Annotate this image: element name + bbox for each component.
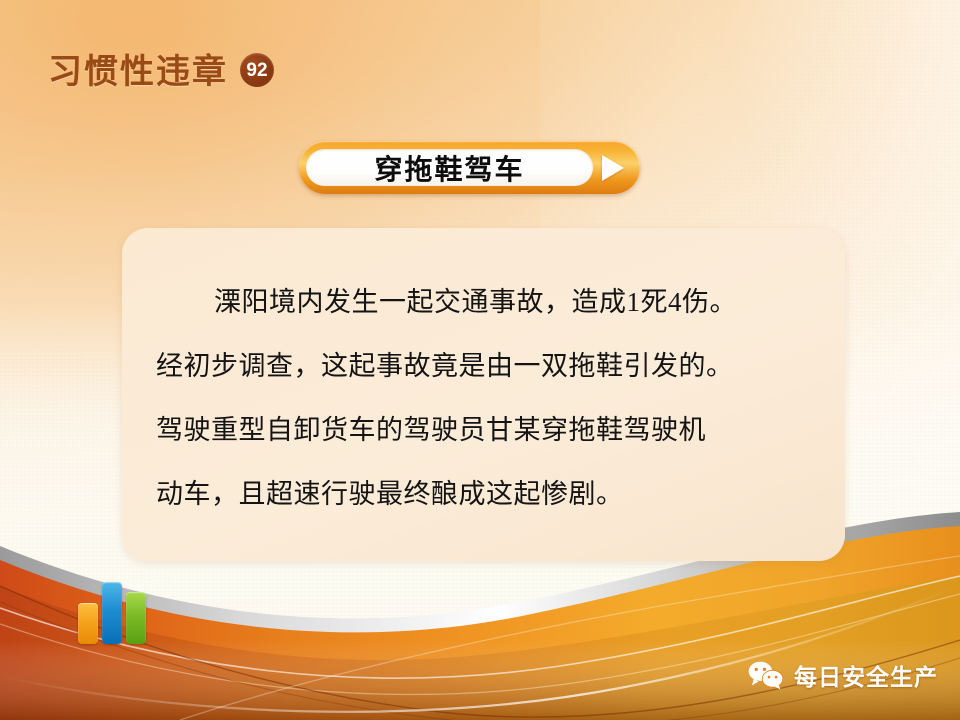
wechat-watermark-label: 每日安全生产 xyxy=(794,658,938,692)
bar-chart-logo-icon xyxy=(78,578,152,644)
topic-banner-inner: 穿拖鞋驾车 xyxy=(306,149,593,186)
body-line-4: 动车，且超速行驶最终酿成这起惨剧。 xyxy=(156,462,807,526)
page-title: 习惯性违章 xyxy=(48,44,228,93)
body-line-2: 经初步调查，这起事故竟是由一双拖鞋引发的。 xyxy=(156,334,807,398)
header: 习惯性违章 92 xyxy=(48,44,274,93)
page-number-badge: 92 xyxy=(240,53,274,87)
slide-root: 习惯性违章 92 穿拖鞋驾车 溧阳境内发生一起交通事故，造成1死4伤。 经初步调… xyxy=(0,0,960,720)
topic-banner-label: 穿拖鞋驾车 xyxy=(374,148,524,188)
green-bar xyxy=(126,592,146,644)
wechat-icon xyxy=(747,660,785,690)
wechat-watermark: 每日安全生产 xyxy=(747,658,938,692)
blue-bar xyxy=(102,582,122,644)
orange-bar xyxy=(78,603,98,644)
body-line-1: 溧阳境内发生一起交通事故，造成1死4伤。 xyxy=(156,270,807,334)
body-line-3: 驾驶重型自卸货车的驾驶员甘某穿拖鞋驾驶机 xyxy=(156,398,807,462)
content-card: 溧阳境内发生一起交通事故，造成1死4伤。 经初步调查，这起事故竟是由一双拖鞋引发… xyxy=(122,228,845,561)
topic-banner[interactable]: 穿拖鞋驾车 xyxy=(299,141,640,194)
play-triangle-shape xyxy=(602,155,624,181)
play-triangle-icon[interactable] xyxy=(593,155,633,181)
